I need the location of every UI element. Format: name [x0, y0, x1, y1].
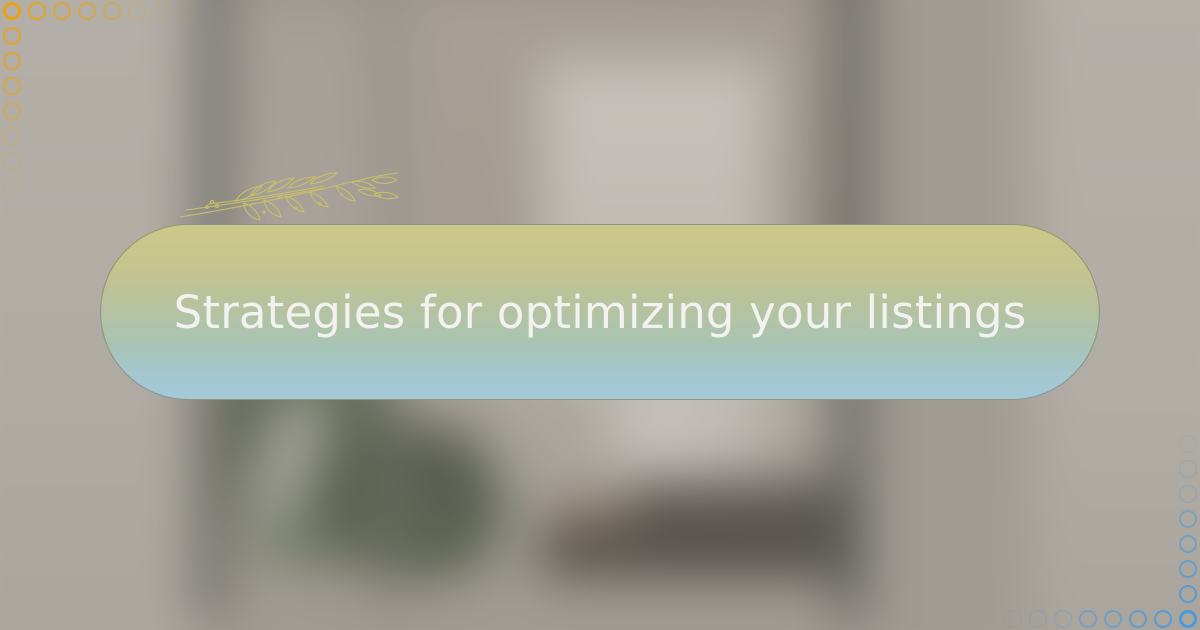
- decorative-circle: [1179, 610, 1197, 628]
- title-banner: Strategies for optimizing your listings: [100, 224, 1100, 400]
- decorative-circle: [1179, 435, 1197, 453]
- decorative-circle: [1179, 485, 1197, 503]
- decorative-circle: [3, 27, 21, 45]
- decorative-circle: [1179, 560, 1197, 578]
- decorative-circle: [1129, 610, 1147, 628]
- decorative-circle: [128, 2, 146, 20]
- decorative-circle: [3, 102, 21, 120]
- decorative-circle: [1179, 510, 1197, 528]
- decorative-circle: [78, 2, 96, 20]
- decorative-circle: [3, 177, 21, 195]
- decorative-circle: [1104, 610, 1122, 628]
- decorative-circle: [1179, 460, 1197, 478]
- decorative-circle: [3, 127, 21, 145]
- page-title: Strategies for optimizing your listings: [170, 284, 1030, 341]
- decorative-circle: [178, 2, 196, 20]
- decorative-circle: [3, 77, 21, 95]
- decorative-circle: [1179, 535, 1197, 553]
- decorative-circle: [1154, 610, 1172, 628]
- decorative-circle: [1079, 610, 1097, 628]
- corner-dots-bottom-right: [990, 420, 1200, 630]
- social-card-canvas: Strategies for optimizing your listings: [0, 0, 1200, 630]
- decorative-circle: [1054, 610, 1072, 628]
- botanical-sprig-icon: [176, 160, 406, 230]
- decorative-circle: [1179, 585, 1197, 603]
- decorative-circle: [53, 2, 71, 20]
- decorative-circle: [153, 2, 171, 20]
- decorative-circle: [3, 2, 21, 20]
- decorative-circle: [103, 2, 121, 20]
- decorative-circle: [28, 2, 46, 20]
- decorative-circle: [3, 152, 21, 170]
- decorative-circle: [1029, 610, 1047, 628]
- decorative-circle: [3, 52, 21, 70]
- decorative-circle: [1004, 610, 1022, 628]
